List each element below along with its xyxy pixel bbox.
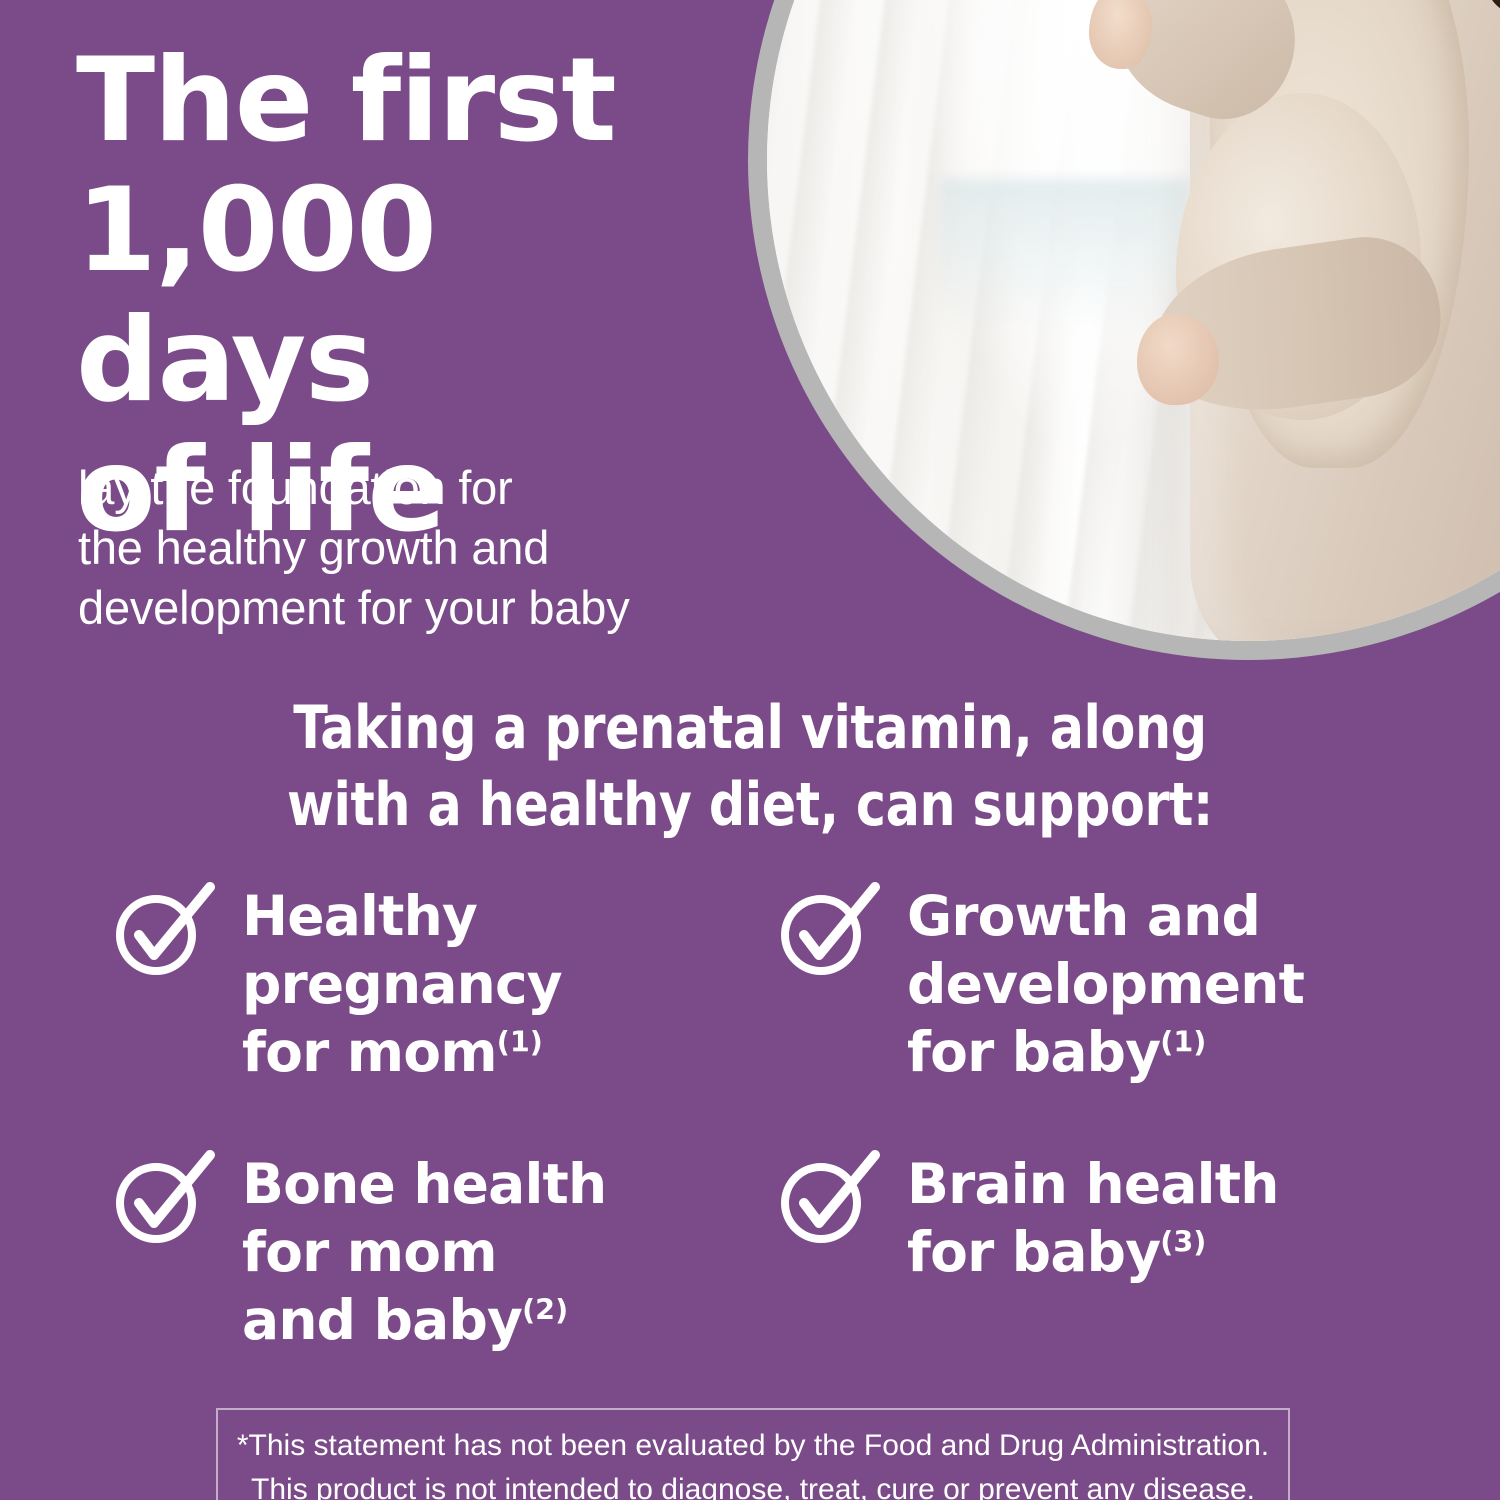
benefit-footnote: (3) [1160, 1225, 1206, 1259]
benefit-item: Healthy pregnancy for mom(1) [110, 878, 735, 1146]
benefit-item: Bone health for mom and baby(2) [110, 1146, 735, 1355]
circle-check-icon [775, 880, 881, 980]
section-title-line-1: Taking a prenatal vitamin, along [120, 690, 1380, 767]
benefit-line-1: Healthy [242, 884, 477, 948]
subheadline-line-2: the healthy growth and [78, 518, 778, 578]
woman-figure [767, 0, 1500, 641]
benefit-line-2: development [907, 952, 1304, 1016]
hand-on-bump [1137, 314, 1219, 405]
benefit-footnote: (2) [522, 1293, 568, 1327]
headline-line-1: The first [76, 36, 736, 166]
benefit-item: Brain health for baby(3) [775, 1146, 1400, 1355]
disclaimer-line-1: *This statement has not been evaluated b… [236, 1424, 1270, 1468]
circle-check-icon [110, 1148, 216, 1248]
benefit-footnote: (1) [1160, 1025, 1206, 1059]
benefit-line-2: for baby [907, 1220, 1160, 1284]
benefit-label: Brain health for baby(3) [907, 1146, 1279, 1286]
benefits-grid: Healthy pregnancy for mom(1) Growth and … [110, 878, 1400, 1355]
benefit-line-1: Brain health [907, 1152, 1279, 1216]
benefit-line-3: for mom [242, 1020, 497, 1084]
promo-banner: The first 1,000 days of life lay the fou… [0, 0, 1500, 1500]
benefit-label: Healthy pregnancy for mom(1) [242, 878, 562, 1087]
section-title-line-2: with a healthy diet, can support: [120, 767, 1380, 844]
subheadline: lay the foundation for the healthy growt… [78, 458, 778, 638]
pregnant-woman-photo [767, 0, 1500, 641]
hero-photo-circle [748, 0, 1500, 660]
benefit-line-2: pregnancy [242, 952, 562, 1016]
circle-check-icon [775, 1148, 881, 1248]
benefit-line-1: Bone health [242, 1152, 606, 1216]
benefit-item: Growth and development for baby(1) [775, 878, 1400, 1146]
subheadline-line-1: lay the foundation for [78, 458, 778, 518]
hand-on-curtain [1089, 0, 1152, 69]
benefit-line-2: for mom [242, 1220, 497, 1284]
disclaimer-line-2: This product is not intended to diagnose… [236, 1468, 1270, 1500]
benefit-line-3: and baby [242, 1288, 522, 1352]
benefit-footnote: (1) [497, 1025, 543, 1059]
fda-disclaimer: *This statement has not been evaluated b… [216, 1408, 1290, 1500]
hero-photo-clip [767, 0, 1500, 641]
circle-check-icon [110, 880, 216, 980]
benefit-label: Growth and development for baby(1) [907, 878, 1304, 1087]
benefit-label: Bone health for mom and baby(2) [242, 1146, 606, 1355]
benefit-line-3: for baby [907, 1020, 1160, 1084]
headline-line-2: 1,000 days [76, 166, 736, 426]
subheadline-line-3: development for your baby [78, 578, 778, 638]
section-title: Taking a prenatal vitamin, along with a … [45, 690, 1455, 844]
benefit-line-1: Growth and [907, 884, 1260, 948]
